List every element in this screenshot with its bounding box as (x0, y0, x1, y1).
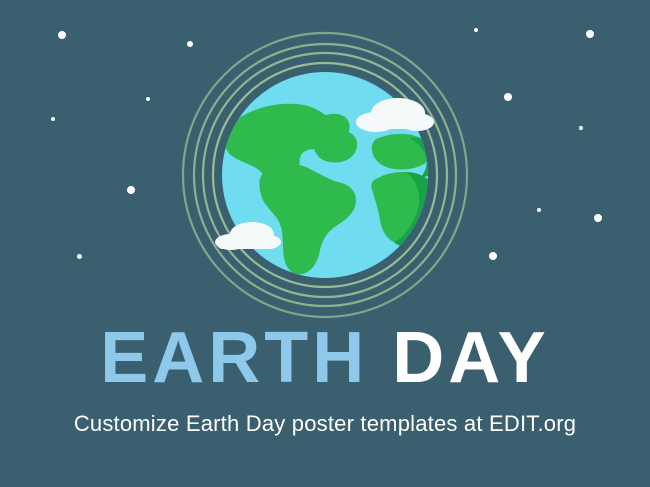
poster-subtitle: Customize Earth Day poster templates at … (0, 411, 650, 437)
page-title: EARTH DAY (0, 322, 650, 394)
star (51, 117, 55, 121)
star (594, 214, 602, 222)
star (579, 126, 583, 130)
title-word-earth: EARTH (100, 318, 368, 398)
star (127, 186, 135, 194)
earth-day-poster: EARTH DAY Customize Earth Day poster tem… (0, 0, 650, 487)
star (187, 41, 193, 47)
title-word-day: DAY (392, 318, 549, 398)
star (474, 28, 478, 32)
star (489, 252, 497, 260)
star (586, 30, 594, 38)
poster-title-block: EARTH DAY (0, 322, 650, 394)
star (58, 31, 66, 39)
star (77, 254, 82, 259)
star (537, 208, 541, 212)
star (504, 93, 512, 101)
star (146, 97, 150, 101)
